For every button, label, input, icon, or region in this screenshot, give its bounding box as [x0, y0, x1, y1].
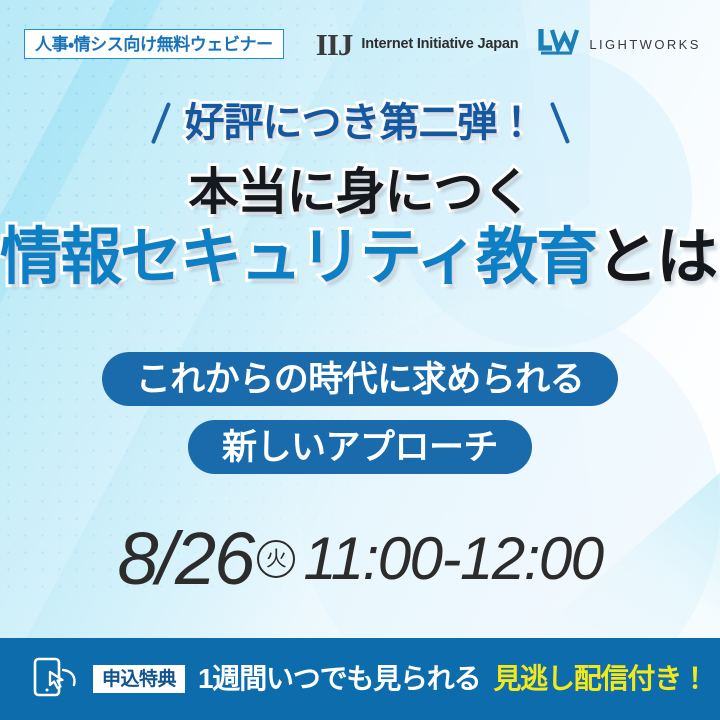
kicker-text: 好評につき第二弾！ — [185, 103, 536, 143]
webinar-category-badge: 人事・情シス向け無料ウェビナー — [24, 29, 284, 59]
logo-group: IIJ Internet Initiative Japan LIGHTWORKS — [316, 26, 701, 63]
subheadline-pill-2: 新しいアプローチ — [188, 420, 532, 474]
event-time: 11:00-12:00 — [303, 529, 602, 589]
event-day-of-week-badge: 火 — [257, 540, 295, 578]
slash-right-decoration-icon — [549, 102, 569, 144]
benefit-badge: 申込特典 — [93, 665, 185, 693]
lightworks-logo-label: LIGHTWORKS — [589, 37, 700, 52]
benefit-text-highlight: 見逃し配信付き！ — [493, 665, 707, 693]
iij-logo-label: Internet Initiative Japan — [361, 36, 518, 52]
iij-wordmark-icon: IIJ — [316, 29, 353, 60]
lightworks-lw-monogram-icon — [538, 26, 580, 63]
webinar-banner: 人事・情シス向け無料ウェビナー IIJ Internet Initiative … — [0, 0, 720, 720]
benefit-text-primary: 1週間いつでも見られる — [198, 665, 480, 693]
headline-block: 好評につき第二弾！ 本当に身につく 情報セキュリティ教育とは？ — [0, 94, 720, 292]
subheadline-pill-group: これからの時代に求められる 新しいアプローチ — [0, 352, 720, 474]
slash-left-decoration-icon — [151, 102, 171, 144]
schedule-row: 8/26 火 11:00-12:00 — [0, 522, 720, 596]
subheadline-pill-1: これからの時代に求められる — [102, 352, 619, 406]
smartphone-tap-icon — [32, 656, 80, 703]
banner-header: 人事・情シス向け無料ウェビナー IIJ Internet Initiative … — [0, 0, 720, 88]
benefit-bar: 申込特典 1週間いつでも見られる 見逃し配信付き！ — [0, 638, 720, 720]
iij-logo: IIJ Internet Initiative Japan — [316, 29, 519, 60]
title-line-1: 本当に身につく — [0, 164, 720, 220]
title-suffix-text: とは？ — [596, 223, 720, 292]
title-highlight-text: 情報セキュリティ教育 — [0, 223, 596, 292]
lightworks-logo: LIGHTWORKS — [538, 26, 700, 63]
title-line-2: 情報セキュリティ教育とは？ — [0, 224, 720, 292]
event-date: 8/26 — [117, 522, 253, 596]
kicker-row: 好評につき第二弾！ — [0, 94, 720, 152]
